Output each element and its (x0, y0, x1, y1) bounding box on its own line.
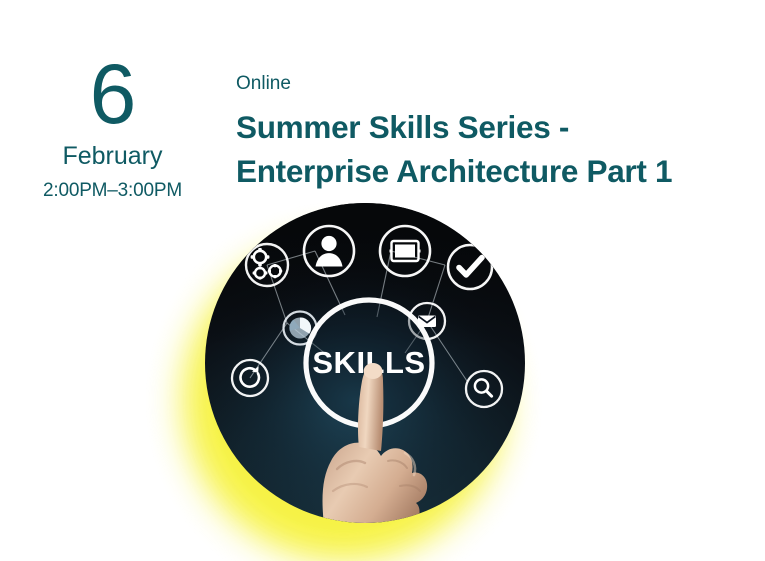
event-image[interactable]: SKILLS (165, 195, 565, 560)
skills-network-graphic: SKILLS (205, 203, 525, 523)
event-month: February (20, 141, 205, 172)
skills-photo-circle: SKILLS (205, 203, 525, 523)
event-title[interactable]: Summer Skills Series - Enterprise Archit… (236, 105, 741, 194)
check-icon (448, 245, 492, 289)
event-title-line-2: Enterprise Architecture Part 1 (236, 149, 741, 194)
event-mode-label: Online (236, 72, 741, 96)
event-date-block: 6 February 2:00PM–3:00PM (20, 56, 205, 203)
event-day: 6 (20, 56, 205, 133)
event-title-line-1: Summer Skills Series - (236, 105, 741, 150)
event-heading-block: Online Summer Skills Series - Enterprise… (236, 72, 741, 194)
event-card[interactable]: 6 February 2:00PM–3:00PM Online Summer S… (0, 0, 765, 560)
